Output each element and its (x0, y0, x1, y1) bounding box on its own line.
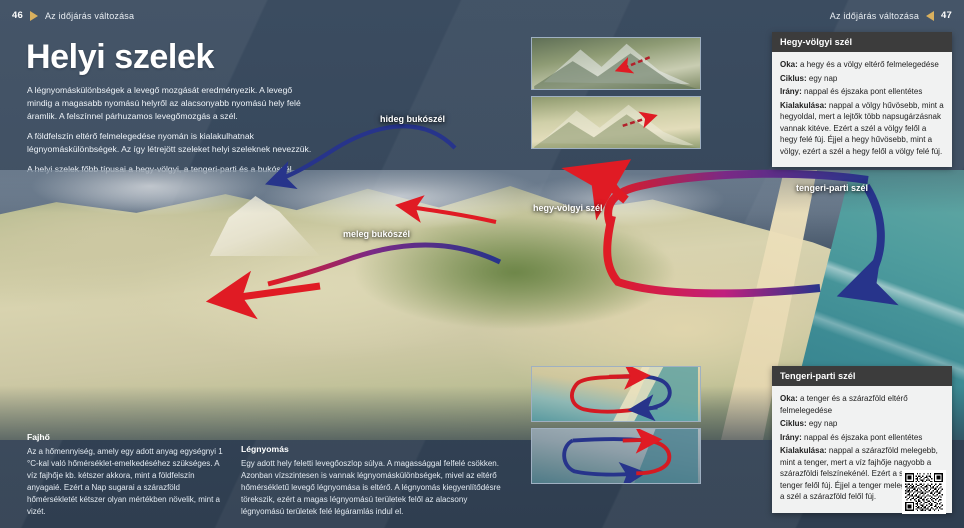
panel-cycle-label: Ciklus: (780, 74, 807, 83)
running-head-left: 46 Az időjárás változása (12, 10, 134, 21)
label-mountain-valley-wind: hegy-völgyi szél (533, 203, 603, 213)
panel-row-formation: Kialakulása: nappal a völgy hűvösebb, mi… (780, 100, 944, 158)
panel-cause-text: a hegy és a völgy eltérő felmelegedése (798, 60, 939, 69)
panel-direction-text: nappal és éjszaka pont ellentétes (802, 433, 923, 442)
intro-text: A légnyomáskülönbségek a levegő mozgását… (27, 84, 319, 176)
panel-direction-text: nappal és éjszaka pont ellentétes (802, 87, 923, 96)
label-warm-fall-wind: meleg bukószél (343, 229, 410, 239)
chapter-title-right: Az időjárás változása (830, 11, 919, 21)
bottom-column-legnyomas: Légnyomás Egy adott hely feletti levegőo… (241, 444, 503, 518)
panel-body: Oka: a hegy és a völgy eltérő felmeleged… (772, 52, 952, 167)
bottom-column-text: Az a hőmennyiség, amely egy adott anyag … (27, 446, 227, 518)
panel-row-direction: Irány: nappal és éjszaka pont ellentétes (780, 86, 944, 98)
inset-sea-breeze-night (531, 428, 701, 484)
label-cold-fall-wind: hideg bukószél (380, 114, 445, 124)
panel-mountain-valley-wind: Hegy-völgyi szél Oka: a hegy és a völgy … (772, 32, 952, 167)
panel-formation-label: Kialakulása: (780, 101, 827, 110)
bottom-column-fajho: Fajhő Az a hőmennyiség, amely egy adott … (27, 432, 227, 518)
inset-sea-breeze-day (531, 366, 701, 422)
panel-cause-text: a tenger és a szárazföld eltérő felmeleg… (780, 394, 908, 415)
play-right-triangle-icon (30, 11, 38, 21)
vegetation-belt (300, 198, 730, 348)
label-sea-land-breeze: tengeri-parti szél (796, 183, 868, 193)
inset-mountain-night (531, 96, 701, 149)
panel-direction-label: Irány: (780, 87, 802, 96)
running-head-right: Az időjárás változása 47 (830, 10, 952, 21)
panel-row-cycle: Ciklus: egy nap (780, 73, 944, 85)
page-title: Helyi szelek (26, 38, 214, 77)
bottom-column-text: Egy adott hely feletti levegőoszlop súly… (241, 458, 503, 518)
intro-paragraph-2: A földfelszín eltérő felmelegedése nyomá… (27, 130, 319, 156)
panel-title: Hegy-völgyi szél (772, 32, 952, 52)
bottom-column-heading: Légnyomás (241, 444, 503, 454)
panel-cause-label: Oka: (780, 60, 798, 69)
panel-row-cause: Oka: a hegy és a völgy eltérő felmeleged… (780, 59, 944, 71)
panel-cycle-text: egy nap (807, 419, 838, 428)
textbook-spread: 46 Az időjárás változása Az időjárás vál… (0, 0, 964, 528)
page-number-left: 46 (12, 10, 23, 21)
intro-paragraph-1: A légnyomáskülönbségek a levegő mozgását… (27, 84, 319, 123)
panel-cycle-label: Ciklus: (780, 419, 807, 428)
bottom-column-heading: Fajhő (27, 432, 227, 442)
panel-row-direction: Irány: nappal és éjszaka pont ellentétes (780, 432, 944, 444)
panel-direction-label: Irány: (780, 433, 802, 442)
qr-code-icon[interactable] (902, 470, 946, 514)
panel-cause-label: Oka: (780, 394, 798, 403)
inset-mountain-day (531, 37, 701, 90)
panel-formation-label: Kialakulása: (780, 446, 827, 455)
chapter-title-left: Az időjárás változása (45, 11, 134, 21)
page-number-right: 47 (941, 10, 952, 21)
panel-cycle-text: egy nap (807, 74, 838, 83)
panel-title: Tengeri-parti szél (772, 366, 952, 386)
play-left-triangle-icon (926, 11, 934, 21)
panel-row-cycle: Ciklus: egy nap (780, 418, 944, 430)
panel-row-cause: Oka: a tenger és a szárazföld eltérő fel… (780, 393, 944, 416)
